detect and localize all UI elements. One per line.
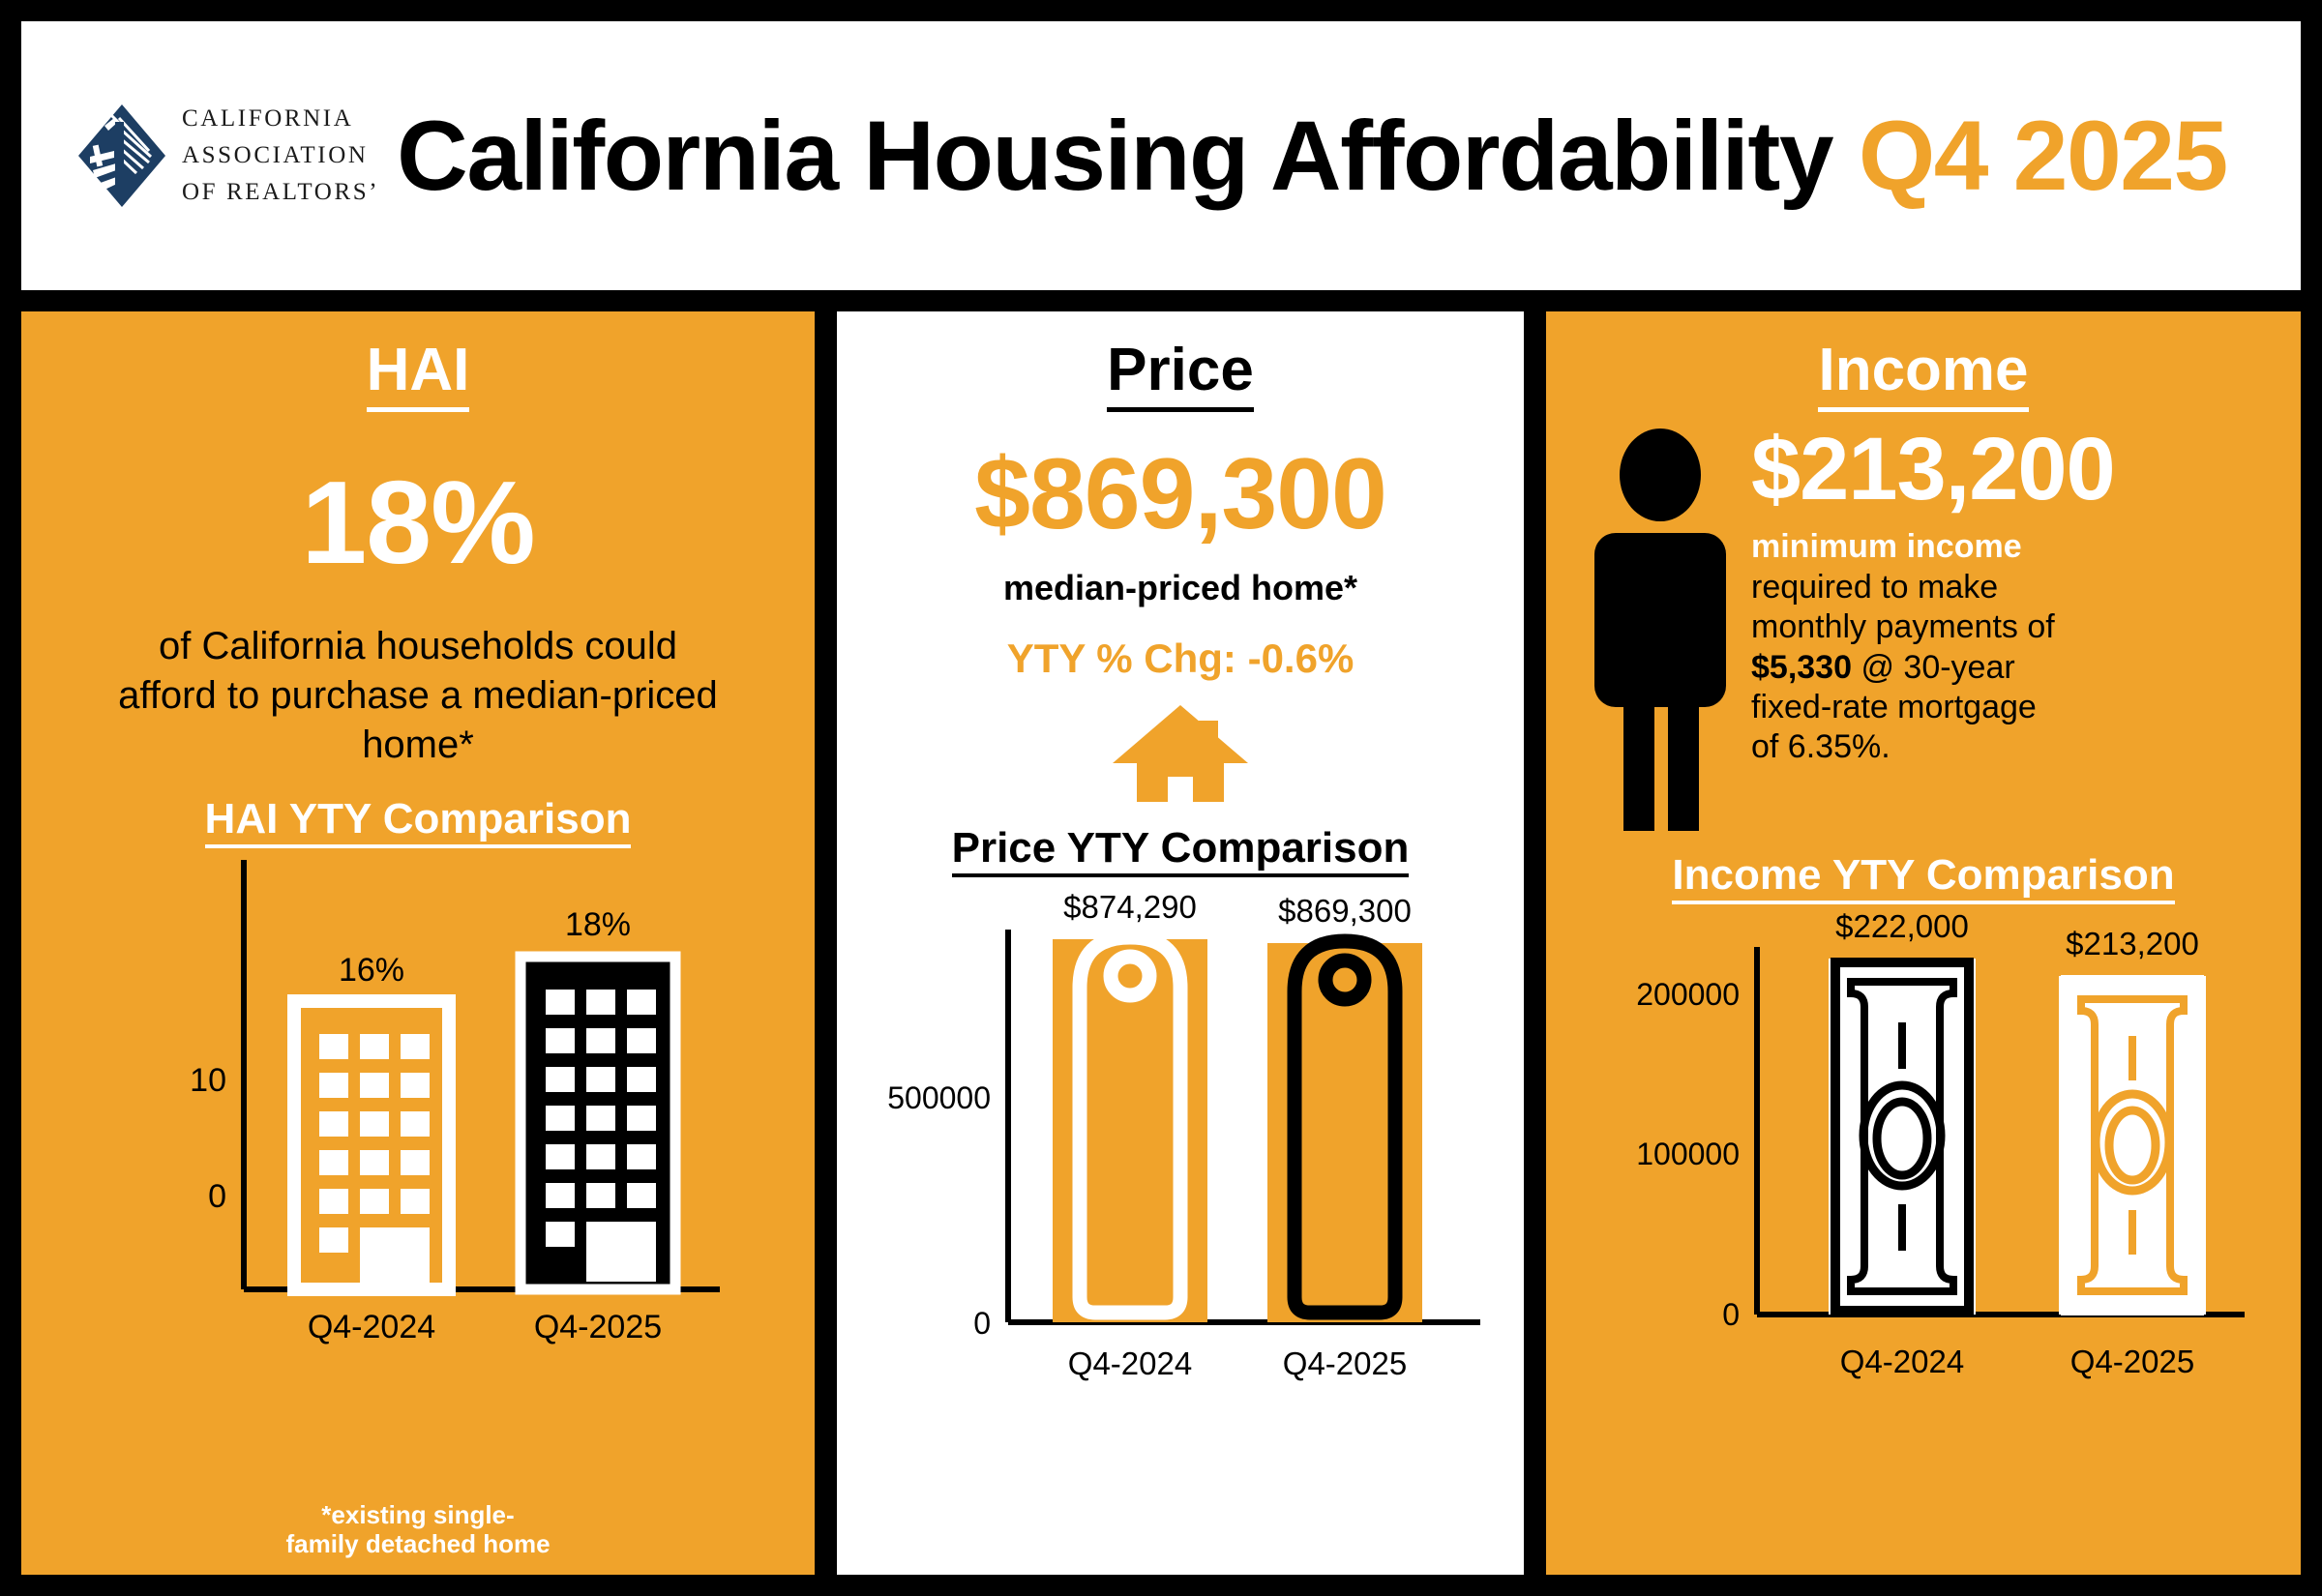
price-yty-chart: 0 500000 $874,290 Q4-2024: [842, 872, 1519, 1413]
price-description: median-priced home*: [837, 568, 1524, 608]
income-bar-2-mark-bottom: [2128, 1210, 2136, 1255]
hai-footnote-line-2: family detached home: [21, 1529, 815, 1559]
infographic-page: CALIFORNIA ASSOCIATION OF REALTORS’ Cali…: [0, 0, 2322, 1596]
price-bar-1-label: $874,290: [1063, 889, 1197, 925]
income-bar-q4-2024: $222,000 Q4-2024: [1829, 908, 1976, 1379]
income-ytick-0: 0: [1722, 1297, 1740, 1332]
income-desc-line-2: required to make: [1751, 569, 1998, 606]
hai-chart-title-text: HAI YTY Comparison: [205, 795, 632, 848]
income-heading-text: Income: [1818, 337, 2028, 412]
price-ytick-500000: 500000: [887, 1080, 991, 1115]
income-text-column: $213,200 minimum income required to make…: [1751, 425, 2115, 768]
hai-bar-2-label: 18%: [565, 906, 631, 943]
hai-big-value: 18%: [21, 463, 815, 581]
income-bar-1-category: Q4-2024: [1840, 1344, 1964, 1379]
hai-footnote-line-1: *existing single-: [21, 1500, 815, 1530]
income-ytick-100000: 100000: [1636, 1137, 1740, 1171]
logo-line-3: OF REALTORS’: [182, 174, 379, 211]
income-description: minimum income required to make monthly …: [1751, 527, 2115, 768]
hai-bar-1-category: Q4-2024: [308, 1309, 435, 1345]
income-yty-chart: 0 100000 200000 $222,000 Q4-2024: [1556, 899, 2291, 1402]
income-bar-q4-2025: $213,200 Q4-2025: [2059, 926, 2206, 1379]
hai-footnote: *existing single- family detached home: [21, 1500, 815, 1559]
income-ytick-200000: 200000: [1636, 977, 1740, 1012]
hai-heading-text: HAI: [367, 337, 470, 412]
income-chart-title-text: Income YTY Comparison: [1672, 851, 2174, 904]
hai-bar-2-category: Q4-2025: [534, 1309, 662, 1345]
panel-hai: HAI 18% of California households could a…: [21, 311, 815, 1575]
page-title-accent: Q4 2025: [1859, 101, 2227, 211]
price-bar-q4-2025: $869,300 Q4-2025: [1267, 893, 1422, 1381]
hai-heading: HAI: [21, 339, 815, 401]
price-ytick-0: 0: [973, 1306, 991, 1341]
hai-bar-1-label: 16%: [339, 952, 404, 989]
price-yty-change: YTY % Chg: -0.6%: [837, 635, 1524, 682]
income-heading: Income: [1546, 339, 2301, 401]
income-desc-line-5: fixed-rate mortgage: [1751, 689, 2037, 725]
income-bar-2-label: $213,200: [2066, 926, 2199, 961]
income-desc-line-6: of 6.35%.: [1751, 728, 1890, 765]
person-icon: [1583, 429, 1738, 835]
hai-chart-title: HAI YTY Comparison: [21, 796, 815, 842]
income-bar-1-label: $222,000: [1835, 908, 1969, 944]
income-desc-bold-white: minimum income: [1751, 528, 2022, 565]
price-big-value: $869,300: [837, 444, 1524, 545]
income-bar-2-category: Q4-2025: [2070, 1344, 2194, 1379]
hai-bar-q4-2024: 16% Q4-2024: [294, 952, 449, 1345]
car-logo-mark: [75, 103, 168, 209]
car-logo: CALIFORNIA ASSOCIATION OF REALTORS’: [75, 101, 379, 211]
income-bar-1-border: [1835, 962, 1969, 1311]
income-summary-row: $213,200 minimum income required to make…: [1546, 425, 2301, 835]
price-bar-2-label: $869,300: [1278, 893, 1412, 929]
hai-yty-chart: 0 10 16% Q4-2024: [70, 842, 766, 1384]
hai-description: of California households could afford to…: [21, 622, 815, 771]
page-title-main: California Housing Affordability: [397, 101, 1859, 211]
price-heading: Price: [837, 339, 1524, 401]
logo-line-2: ASSOCIATION: [182, 137, 379, 174]
hai-bar-1-windows: [319, 1034, 430, 1283]
income-bar-1-mark-bottom: [1898, 1204, 1906, 1251]
hai-ytick-10: 10: [190, 1062, 226, 1099]
income-bar-2-mark-top: [2128, 1036, 2136, 1080]
car-logo-text: CALIFORNIA ASSOCIATION OF REALTORS’: [182, 101, 379, 211]
income-desc-line-4-rest: @ 30-year: [1852, 649, 2015, 686]
income-chart-title: Income YTY Comparison: [1546, 852, 2301, 899]
income-desc-line-3: monthly payments of: [1751, 608, 2055, 645]
price-chart-title-text: Price YTY Comparison: [952, 824, 1410, 877]
panels-row: HAI 18% of California households could a…: [21, 311, 2301, 1575]
hai-ytick-0: 0: [208, 1178, 226, 1215]
income-desc-amount: $5,330: [1751, 649, 1852, 686]
price-chart-title: Price YTY Comparison: [837, 825, 1524, 872]
price-heading-text: Price: [1107, 337, 1254, 412]
income-bar-2-border: [2066, 980, 2199, 1311]
house-icon: [1110, 703, 1251, 804]
logo-line-1: CALIFORNIA: [182, 101, 379, 137]
price-bar-1-category: Q4-2024: [1068, 1345, 1192, 1381]
price-bar-2-category: Q4-2025: [1283, 1345, 1407, 1381]
panel-income: Income $213,200 minimum income required …: [1546, 311, 2301, 1575]
page-header: CALIFORNIA ASSOCIATION OF REALTORS’ Cali…: [21, 21, 2301, 290]
panel-price: Price $869,300 median-priced home* YTY %…: [837, 311, 1524, 1575]
page-title: California Housing Affordability Q4 2025: [397, 106, 2227, 205]
income-bar-1-mark-top: [1898, 1022, 1906, 1069]
income-big-value: $213,200: [1751, 425, 2115, 514]
price-bar-q4-2024: $874,290 Q4-2024: [1053, 889, 1207, 1381]
hai-bar-q4-2025: 18% Q4-2025: [521, 906, 675, 1345]
